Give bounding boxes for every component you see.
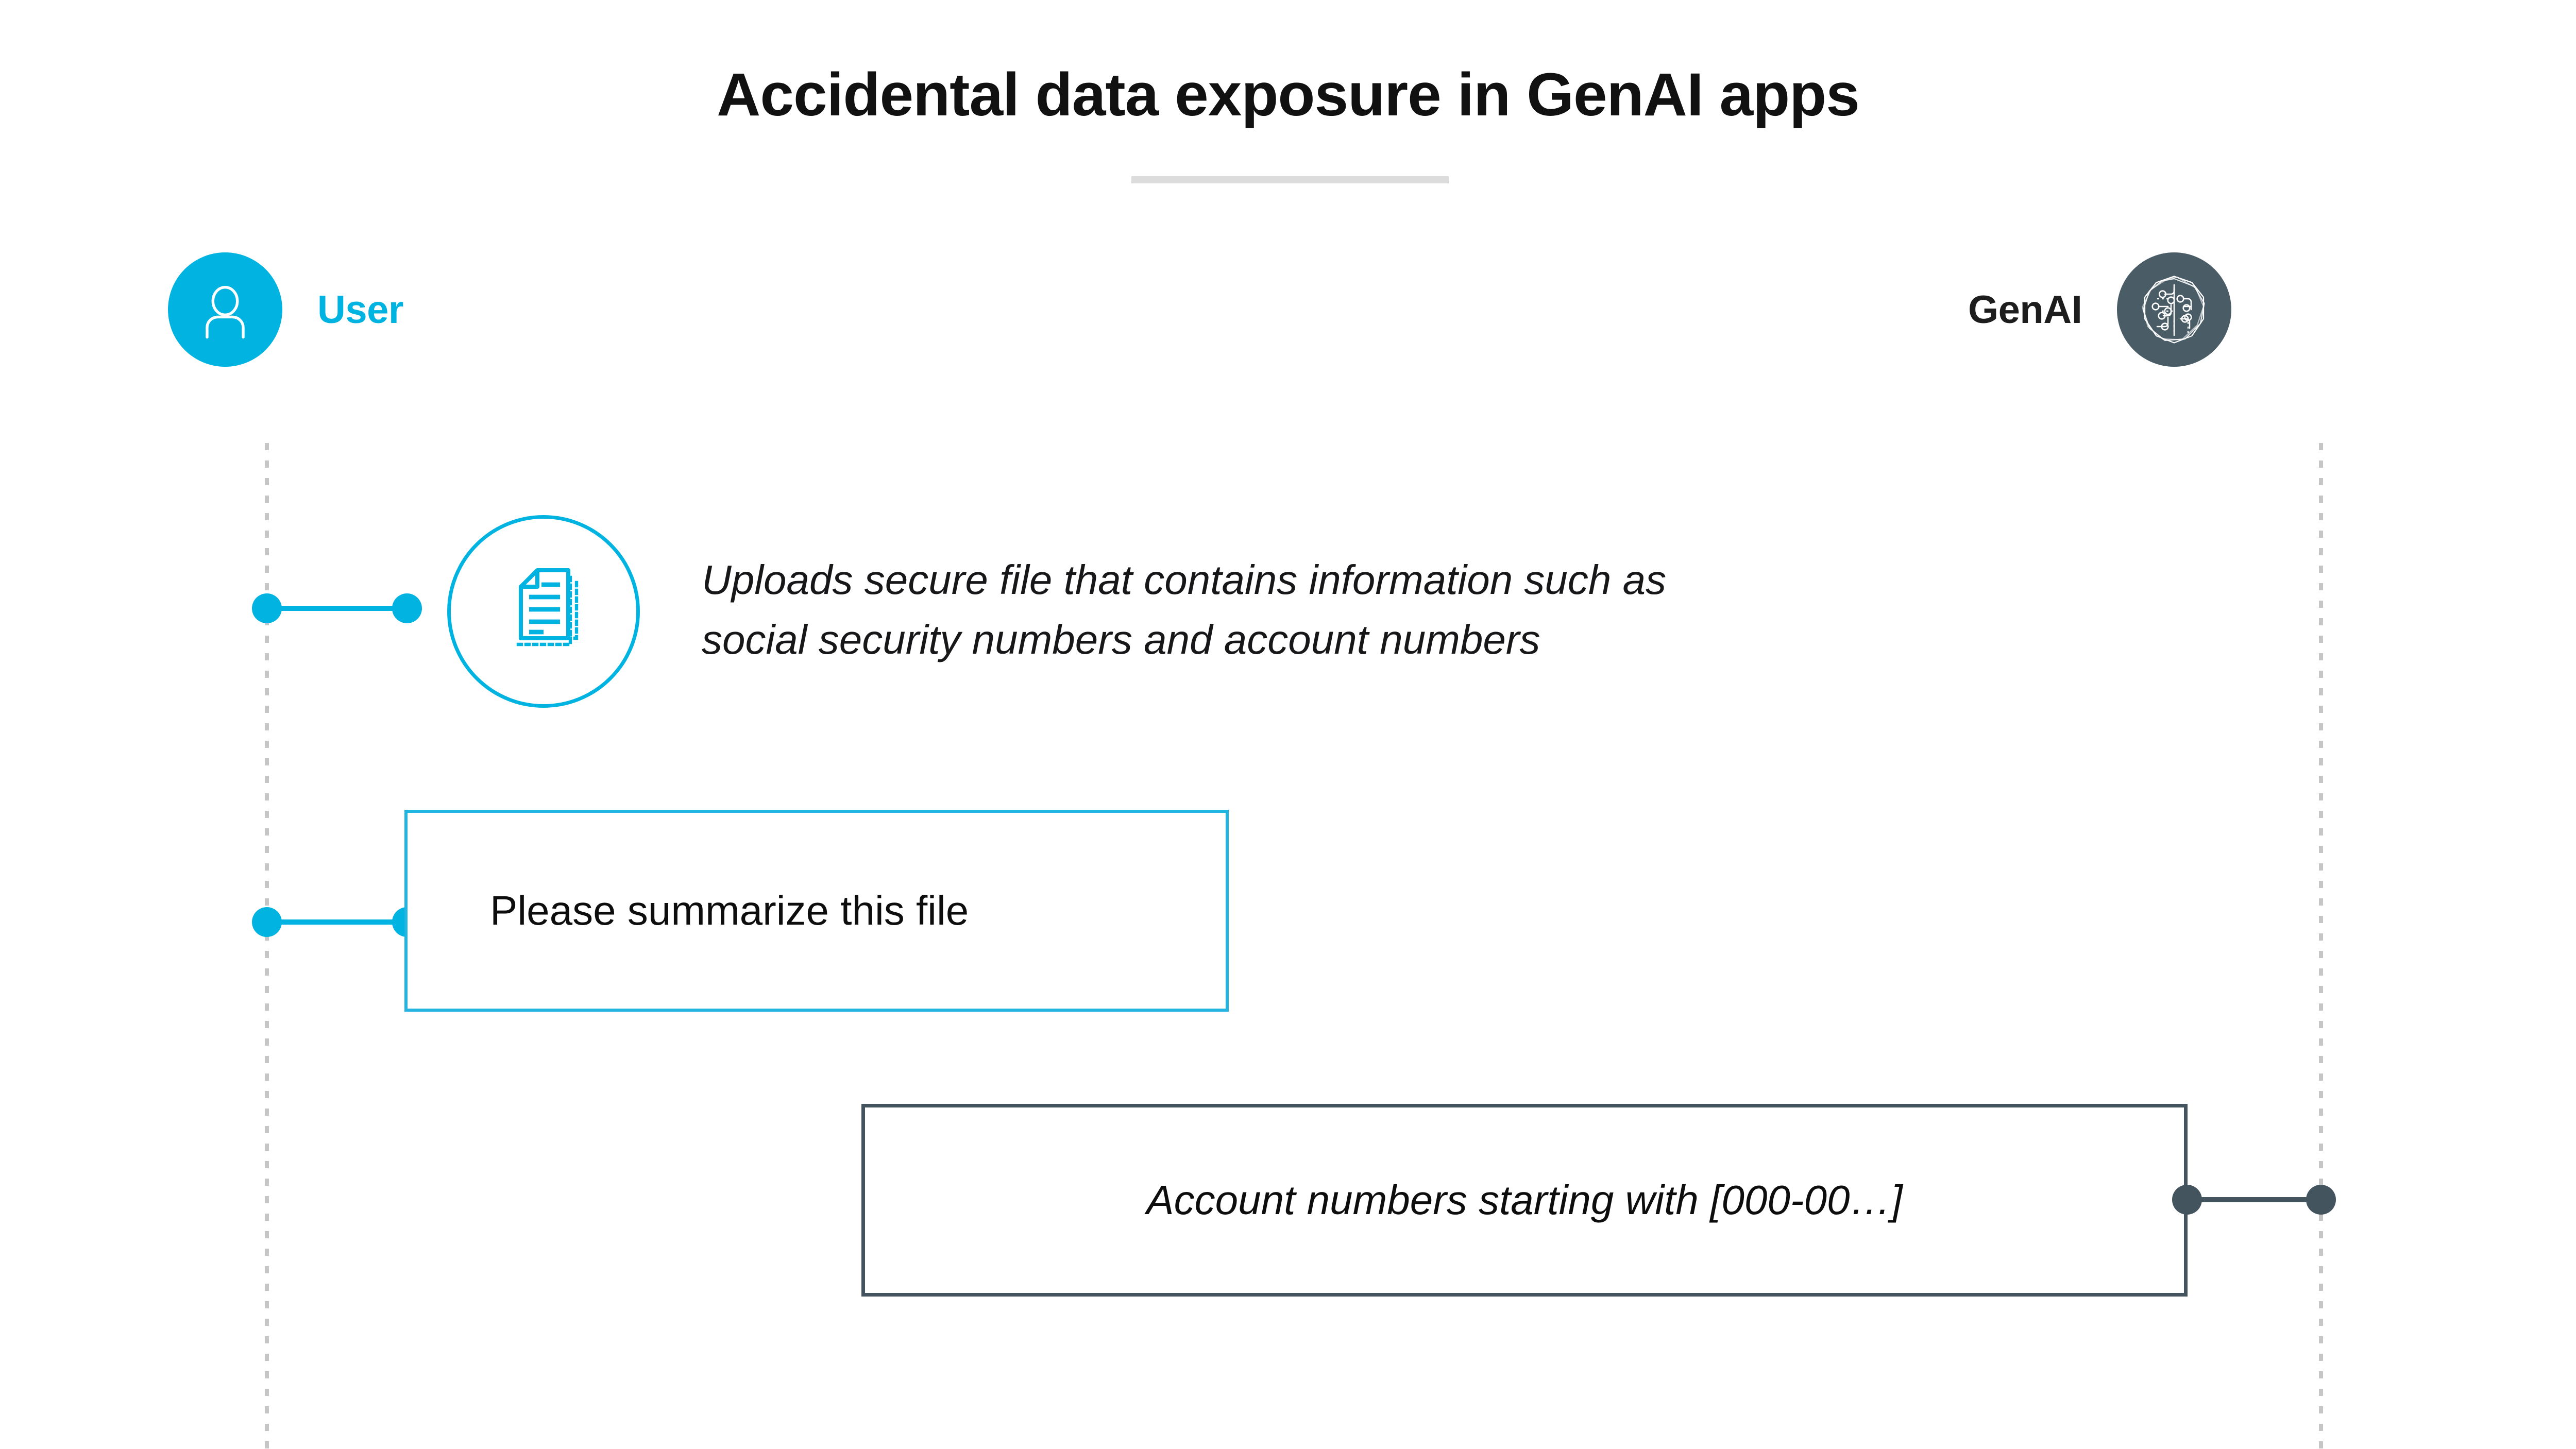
- actor-genai[interactable]: GenAI: [1968, 252, 2231, 367]
- upload-caption-line-2: social security numbers and account numb…: [702, 610, 2052, 670]
- connector-dot-end: [2306, 1185, 2336, 1215]
- ai-brain-circuit-icon: [2136, 271, 2213, 348]
- avatar-genai: [2117, 252, 2231, 367]
- message-bubble-user[interactable]: Please summarize this file: [404, 810, 1229, 1012]
- lifeline-genai: [2319, 443, 2323, 1449]
- connector-line: [267, 919, 407, 925]
- page-title: Accidental data exposure in GenAI apps: [0, 62, 2576, 129]
- document-stack-icon: [492, 560, 595, 663]
- message-bubble-genai[interactable]: Account numbers starting with [000-00…]: [861, 1104, 2188, 1297]
- person-icon: [191, 276, 259, 344]
- connector-prompt: [267, 907, 407, 937]
- avatar-user: [168, 252, 282, 367]
- diagram-canvas: Accidental data exposure in GenAI apps U…: [0, 0, 2576, 1449]
- actor-user[interactable]: User: [168, 252, 403, 367]
- actor-user-label: User: [317, 287, 403, 332]
- upload-caption-line-1: Uploads secure file that contains inform…: [702, 550, 2052, 610]
- actor-genai-label: GenAI: [1968, 287, 2082, 332]
- title-divider-rule: [1131, 176, 1449, 183]
- message-text-genai: Account numbers starting with [000-00…]: [1146, 1173, 1902, 1227]
- connector-line: [267, 606, 407, 611]
- upload-caption: Uploads secure file that contains inform…: [702, 550, 2052, 670]
- connector-reply: [2187, 1185, 2321, 1215]
- document-icon-medallion[interactable]: [447, 515, 640, 708]
- connector-dot-end: [392, 593, 422, 623]
- connector-upload: [267, 593, 407, 623]
- message-text-user: Please summarize this file: [490, 884, 969, 937]
- connector-line: [2187, 1197, 2321, 1202]
